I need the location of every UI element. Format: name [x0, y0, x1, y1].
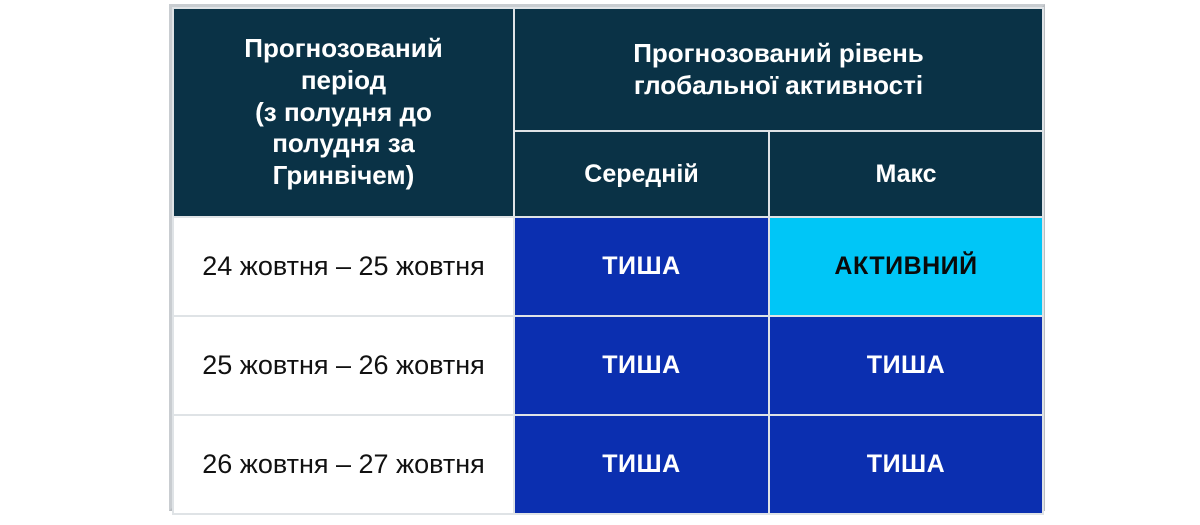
table-header: Прогнозований період (з полудня до полуд… — [173, 8, 1043, 217]
cell-max-level: АКТИВНИЙ — [769, 217, 1043, 316]
cell-mean-level: ТИША — [514, 217, 769, 316]
header-cell-max: Макс — [769, 131, 1043, 217]
geomagnetic-forecast-table: Прогнозований період (з полудня до полуд… — [172, 7, 1044, 515]
cell-mean-level: ТИША — [514, 415, 769, 514]
header-period-line-5: Гринвічем) — [174, 160, 513, 192]
table-body: 24 жовтня – 25 жовтня ТИША АКТИВНИЙ 25 ж… — [173, 217, 1043, 514]
header-cell-period: Прогнозований період (з полудня до полуд… — [173, 8, 514, 217]
table-row: 26 жовтня – 27 жовтня ТИША ТИША — [173, 415, 1043, 514]
cell-period: 24 жовтня – 25 жовтня — [173, 217, 514, 316]
page-root: Прогнозований період (з полудня до полуд… — [0, 0, 1200, 525]
cell-period: 25 жовтня – 26 жовтня — [173, 316, 514, 415]
table-row: 25 жовтня – 26 жовтня ТИША ТИША — [173, 316, 1043, 415]
cell-max-level: ТИША — [769, 316, 1043, 415]
header-row-top: Прогнозований період (з полудня до полуд… — [173, 8, 1043, 131]
header-period-line-1: Прогнозований — [174, 33, 513, 65]
cell-max-level: ТИША — [769, 415, 1043, 514]
header-level-line-1: Прогнозований рівень — [515, 38, 1042, 70]
forecast-table-frame: Прогнозований період (з полудня до полуд… — [169, 4, 1045, 511]
header-cell-mean: Середній — [514, 131, 769, 217]
header-period-line-2: період — [174, 65, 513, 97]
header-period-line-4: полудня за — [174, 128, 513, 160]
cell-mean-level: ТИША — [514, 316, 769, 415]
cell-period: 26 жовтня – 27 жовтня — [173, 415, 514, 514]
header-period-line-3: (з полудня до — [174, 97, 513, 129]
header-level-line-2: глобальної активності — [515, 70, 1042, 102]
table-row: 24 жовтня – 25 жовтня ТИША АКТИВНИЙ — [173, 217, 1043, 316]
header-cell-activity-level: Прогнозований рівень глобальної активнос… — [514, 8, 1043, 131]
